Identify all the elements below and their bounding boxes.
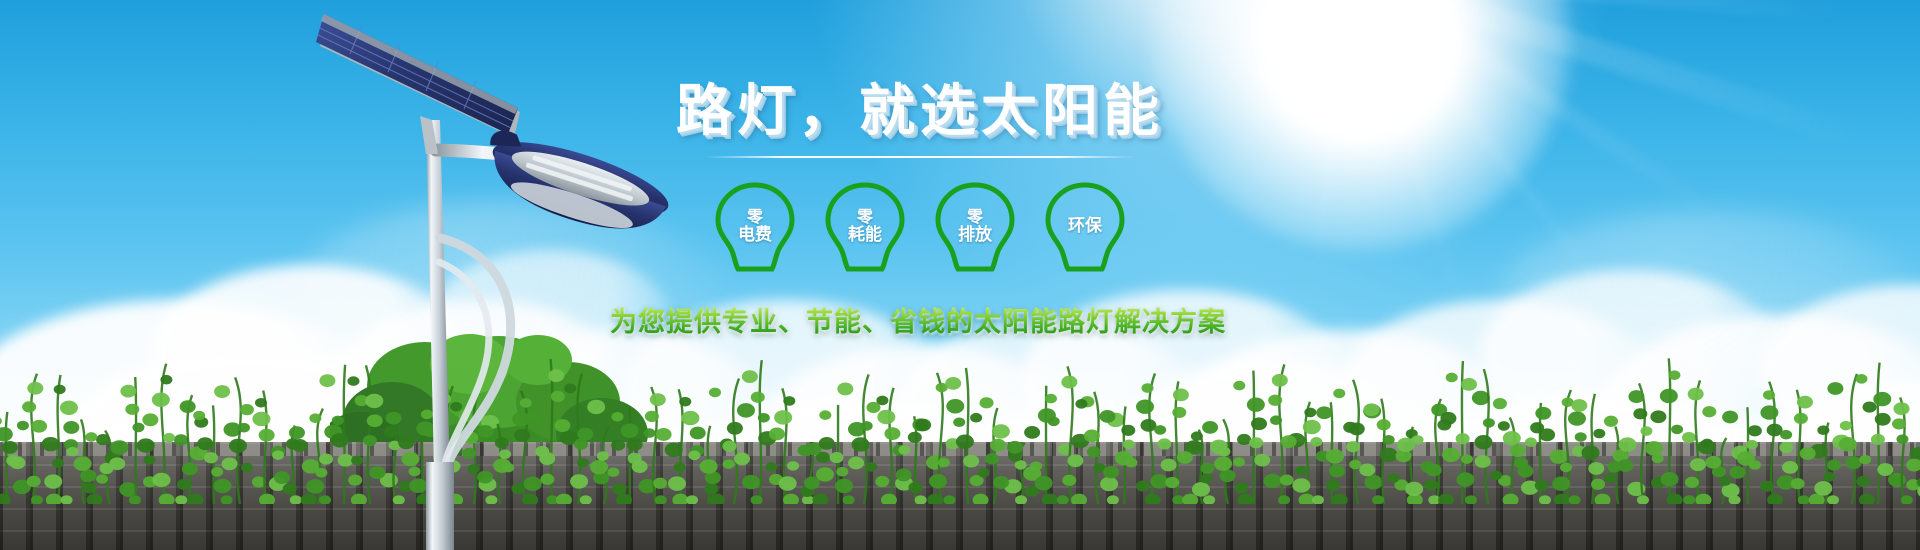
badge-label: 耗能 [848,225,882,245]
badge-label: 环保 [1068,216,1102,236]
tiled-wall [0,442,1920,550]
badge-text: 零电费 [738,209,772,244]
page-title: 路灯，就选太阳能 [610,84,1230,140]
solar-panel [316,14,520,154]
badge-text: 零排放 [958,209,992,244]
badge-text: 环保 [1068,218,1102,236]
badge-eco-friendly: 环保 [1042,180,1128,274]
cloud-haze [1500,210,1920,380]
badge-zero: 零 [958,209,992,226]
badge-zero: 零 [738,209,772,226]
solar-street-lamp-banner: 路灯，就选太阳能 零电费零耗能零排放环保 为您提供专业、节能、省钱的太阳能路灯解… [0,0,1920,550]
badge-zero: 零 [848,209,882,226]
feature-badge-list: 零电费零耗能零排放环保 [610,180,1230,274]
badge-label: 排放 [958,225,992,245]
title-divider [705,156,1135,158]
banner-text-block: 路灯，就选太阳能 零电费零耗能零排放环保 为您提供专业、节能、省钱的太阳能路灯解… [610,84,1230,339]
badge-energy-use: 零耗能 [822,180,908,274]
wall-tiles [0,442,1920,550]
badge-text: 零耗能 [848,209,882,244]
tagline: 为您提供专业、节能、省钱的太阳能路灯解决方案！ [610,300,1230,339]
badge-emission: 零排放 [932,180,1018,274]
badge-electricity-cost: 零电费 [712,180,798,274]
badge-label: 电费 [738,225,772,245]
